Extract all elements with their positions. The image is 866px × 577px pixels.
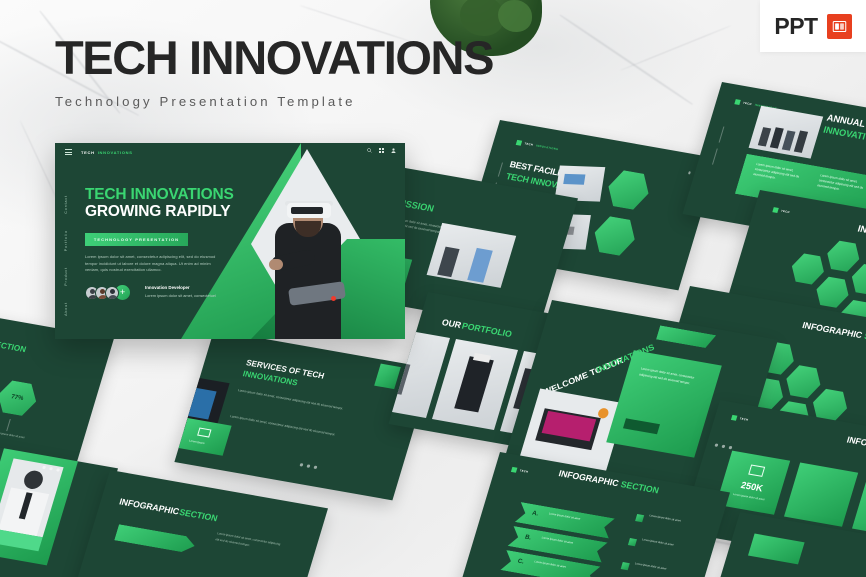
- slide-title-white: OUR: [441, 318, 463, 330]
- hero-cta-button[interactable]: TECHNOLOGY PRESENTATION: [85, 233, 188, 246]
- slide-logo-primary: TECH: [519, 469, 529, 474]
- caption: Lorem ipsum dolor sit amet: [648, 514, 693, 526]
- panel-text: Lorem ipsum dolor sit amet, consectetur …: [638, 366, 697, 387]
- slide-logo-primary: TECH: [743, 102, 753, 107]
- user-icon[interactable]: [391, 148, 396, 153]
- grid-icon[interactable]: [379, 148, 384, 153]
- slide-title-green: SECTION: [620, 480, 660, 496]
- slide-title-white: INFOGRAPHIC: [558, 469, 620, 488]
- sidenav-item-about[interactable]: About: [64, 302, 68, 316]
- accent-shape: [748, 534, 805, 565]
- title-block: TECH INNOVATIONS Technology Presentation…: [55, 34, 493, 109]
- slide-title-green: PORTFOLIO: [461, 321, 513, 339]
- hexagon-shape: [812, 274, 853, 310]
- slide-body-text: Lorem ipsum dolor sit amet, consectetur …: [237, 387, 349, 412]
- showcase-stage: TECH INNOVATIONS BEST FACILITIES OF TECH…: [0, 0, 866, 577]
- hero-logo-accent: INNOVATIONS: [98, 150, 133, 155]
- sidenav-item-product[interactable]: Product: [64, 267, 68, 286]
- hero-body-text: Lorem ipsum dolor sit amet, consectetur …: [85, 254, 223, 274]
- search-icon[interactable]: [367, 148, 372, 153]
- slide-body-text: Lorem ipsum dolor sit amet, consectetur …: [229, 413, 341, 438]
- page-subtitle: Technology Presentation Template: [55, 94, 493, 109]
- slide-photo: [749, 106, 824, 159]
- hero-side-nav[interactable]: Contact Portfolio Product About: [64, 195, 68, 316]
- accent-shape: [656, 325, 716, 349]
- slide-logo-primary: TECH: [781, 210, 791, 215]
- caption: Lorem ipsum dolor sit amet: [641, 538, 686, 550]
- bullet-marker: [635, 514, 644, 522]
- hexagon-shape: [782, 363, 826, 401]
- monitor-icon: [748, 464, 765, 476]
- vr-suit: [275, 223, 341, 339]
- slide-infographic-arrow[interactable]: INFOGRAPHIC SECTION Lorem ipsum dolor si…: [70, 470, 328, 577]
- slide-logo-accent: INNOVATIONS: [536, 144, 559, 151]
- hero-author-name: Innovation Developer: [145, 285, 216, 290]
- team-card: [0, 442, 80, 565]
- list-letter: B.: [524, 534, 532, 541]
- vr-hand: [269, 259, 283, 270]
- avatar: [105, 286, 119, 300]
- list-letter: A.: [531, 510, 539, 517]
- hero-top-icons: [367, 148, 396, 153]
- slide-title-green: SECTION: [178, 508, 218, 524]
- powerpoint-icon: [827, 14, 852, 39]
- list-text: Lorem ipsum dolor sit amet: [534, 560, 587, 574]
- stat-card: [784, 463, 858, 527]
- slide-title-green: SECTION: [0, 340, 27, 355]
- feature-card: Lorem Ipsum: [179, 418, 232, 456]
- page-title: TECH INNOVATIONS: [55, 34, 493, 81]
- percent-value: 77%: [0, 378, 41, 419]
- hexagon-percent: 77%: [0, 378, 41, 419]
- bullet-marker: [628, 538, 637, 546]
- slide-logo-mark: [511, 467, 518, 473]
- hero-avatar-group[interactable]: +: [85, 285, 130, 300]
- hexagon-shape: [603, 167, 654, 212]
- sidenav-item-portfolio[interactable]: Portfolio: [64, 230, 68, 251]
- slide-title-white: INFOGRAPHIC: [846, 435, 866, 454]
- hero-logo: TECH INNOVATIONS: [81, 150, 133, 155]
- sidenav-item-contact[interactable]: Contact: [64, 195, 68, 214]
- team-photo: [0, 458, 64, 537]
- list-text: Lorem ipsum dolor sit amet: [548, 512, 601, 526]
- bullet-marker: [621, 562, 630, 570]
- hexagon-shape: [823, 238, 864, 274]
- hero-logo-primary: TECH: [81, 150, 95, 155]
- slide-logo-mark: [731, 415, 738, 421]
- vr-headset-visor: [291, 207, 323, 214]
- slide-title-white: INFOGRAPHIC: [801, 321, 863, 340]
- accent-shape: [374, 364, 401, 390]
- hero-headline-white: GROWING RAPIDLY: [85, 204, 230, 220]
- hero-headline-green: TECH INNOVATIONS: [85, 187, 234, 203]
- arrow-shape: [114, 524, 197, 554]
- hero-author-role: Lorem ipsum dolor sit amet, consectetuel: [145, 293, 216, 298]
- slide-logo-mark: [734, 99, 741, 105]
- list-text: Lorem ipsum dolor sit amet: [541, 536, 594, 550]
- hero-author: Innovation Developer Lorem ipsum dolor s…: [145, 285, 216, 298]
- slide-title-white: INFOGRAPHIC: [856, 224, 866, 245]
- slide-logo-mark: [516, 140, 523, 146]
- ppt-badge-label: PPT: [774, 13, 817, 40]
- caption: Lorem ipsum dolor sit amet: [634, 562, 679, 574]
- caption: Lorem ipsum dolor sit amet: [0, 431, 28, 441]
- content-panel: Lorem ipsum dolor sit amet, consectetur …: [606, 350, 722, 457]
- hero-slide[interactable]: TECH INNOVATIONS Contact Portfolio Produ…: [55, 143, 405, 339]
- hero-vr-person-photo: [269, 179, 349, 339]
- slide-logo-primary: TECH: [739, 417, 749, 422]
- stat-card: 250K Lorem ipsum dolor sit amet: [716, 451, 790, 515]
- hero-cta-label: TECHNOLOGY PRESENTATION: [94, 237, 179, 242]
- hexagon-shape: [787, 251, 828, 287]
- slide-title-white: INFOGRAPHIC: [118, 497, 180, 516]
- vr-led-light: [331, 296, 336, 301]
- hamburger-menu-icon[interactable]: [65, 149, 72, 155]
- slide-logo-mark: [772, 207, 779, 213]
- list-letter: C.: [517, 558, 525, 565]
- hexagon-shape: [589, 213, 640, 258]
- panel-button[interactable]: [623, 418, 660, 434]
- caption: Lorem ipsum dolor sit amet, consectetur …: [215, 531, 282, 553]
- ppt-badge: PPT: [760, 0, 866, 52]
- slide-logo-primary: TECH: [524, 142, 534, 147]
- slide-photo: [427, 223, 517, 288]
